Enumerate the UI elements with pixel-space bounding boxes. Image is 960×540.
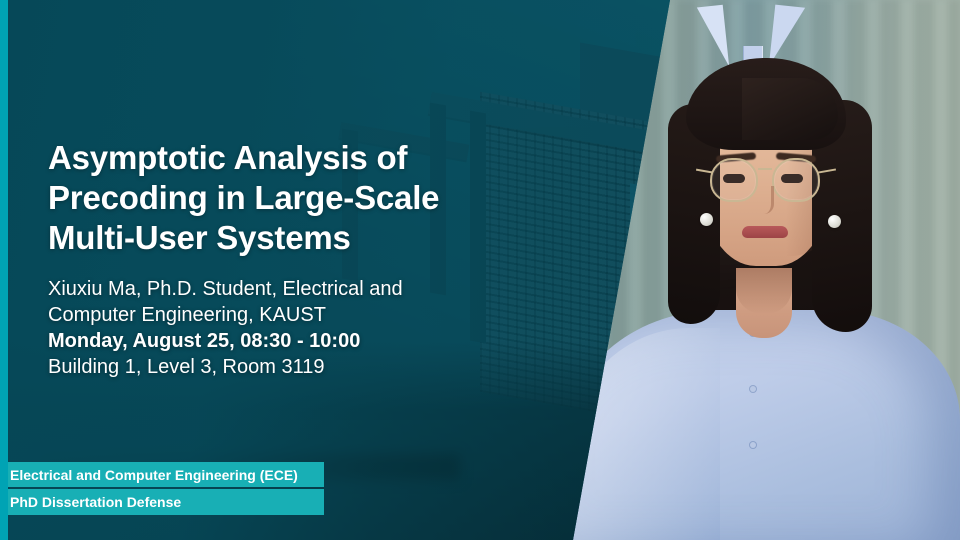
- pearl-earring-left: [700, 213, 713, 226]
- shirt-button: [750, 442, 756, 448]
- left-accent-stripe: [0, 0, 8, 540]
- event-details: Xiuxiu Ma, Ph.D. Student, Electrical and…: [48, 276, 518, 380]
- nose: [756, 186, 774, 214]
- event-type-badge: PhD Dissertation Defense: [0, 489, 324, 515]
- shirt-torso: [570, 310, 960, 540]
- shirt-collar-left: [697, 5, 729, 69]
- eyeglass-lens-right: [772, 158, 820, 202]
- speaker-affiliation-line: Computer Engineering, KAUST: [48, 302, 518, 328]
- pearl-earring-right: [828, 215, 841, 228]
- event-announcement-poster: Asymptotic Analysis of Precoding in Larg…: [0, 0, 960, 540]
- event-datetime: Monday, August 25, 08:30 - 10:00: [48, 328, 518, 354]
- event-title: Asymptotic Analysis of Precoding in Larg…: [48, 138, 518, 258]
- hair-fringe: [686, 58, 846, 150]
- shirt-button: [750, 386, 756, 392]
- event-location: Building 1, Level 3, Room 3119: [48, 354, 518, 380]
- mouth: [742, 226, 788, 238]
- eyeglass-lens-left: [710, 158, 758, 202]
- eyeglass-bridge: [758, 168, 772, 170]
- neck-shadow: [736, 268, 792, 314]
- event-title-line: Multi-User Systems: [48, 218, 518, 258]
- event-title-line: Asymptotic Analysis of: [48, 138, 518, 178]
- event-title-line: Precoding in Large-Scale: [48, 178, 518, 218]
- speaker-affiliation-line: Xiuxiu Ma, Ph.D. Student, Electrical and: [48, 276, 518, 302]
- department-badge: Electrical and Computer Engineering (ECE…: [0, 462, 324, 487]
